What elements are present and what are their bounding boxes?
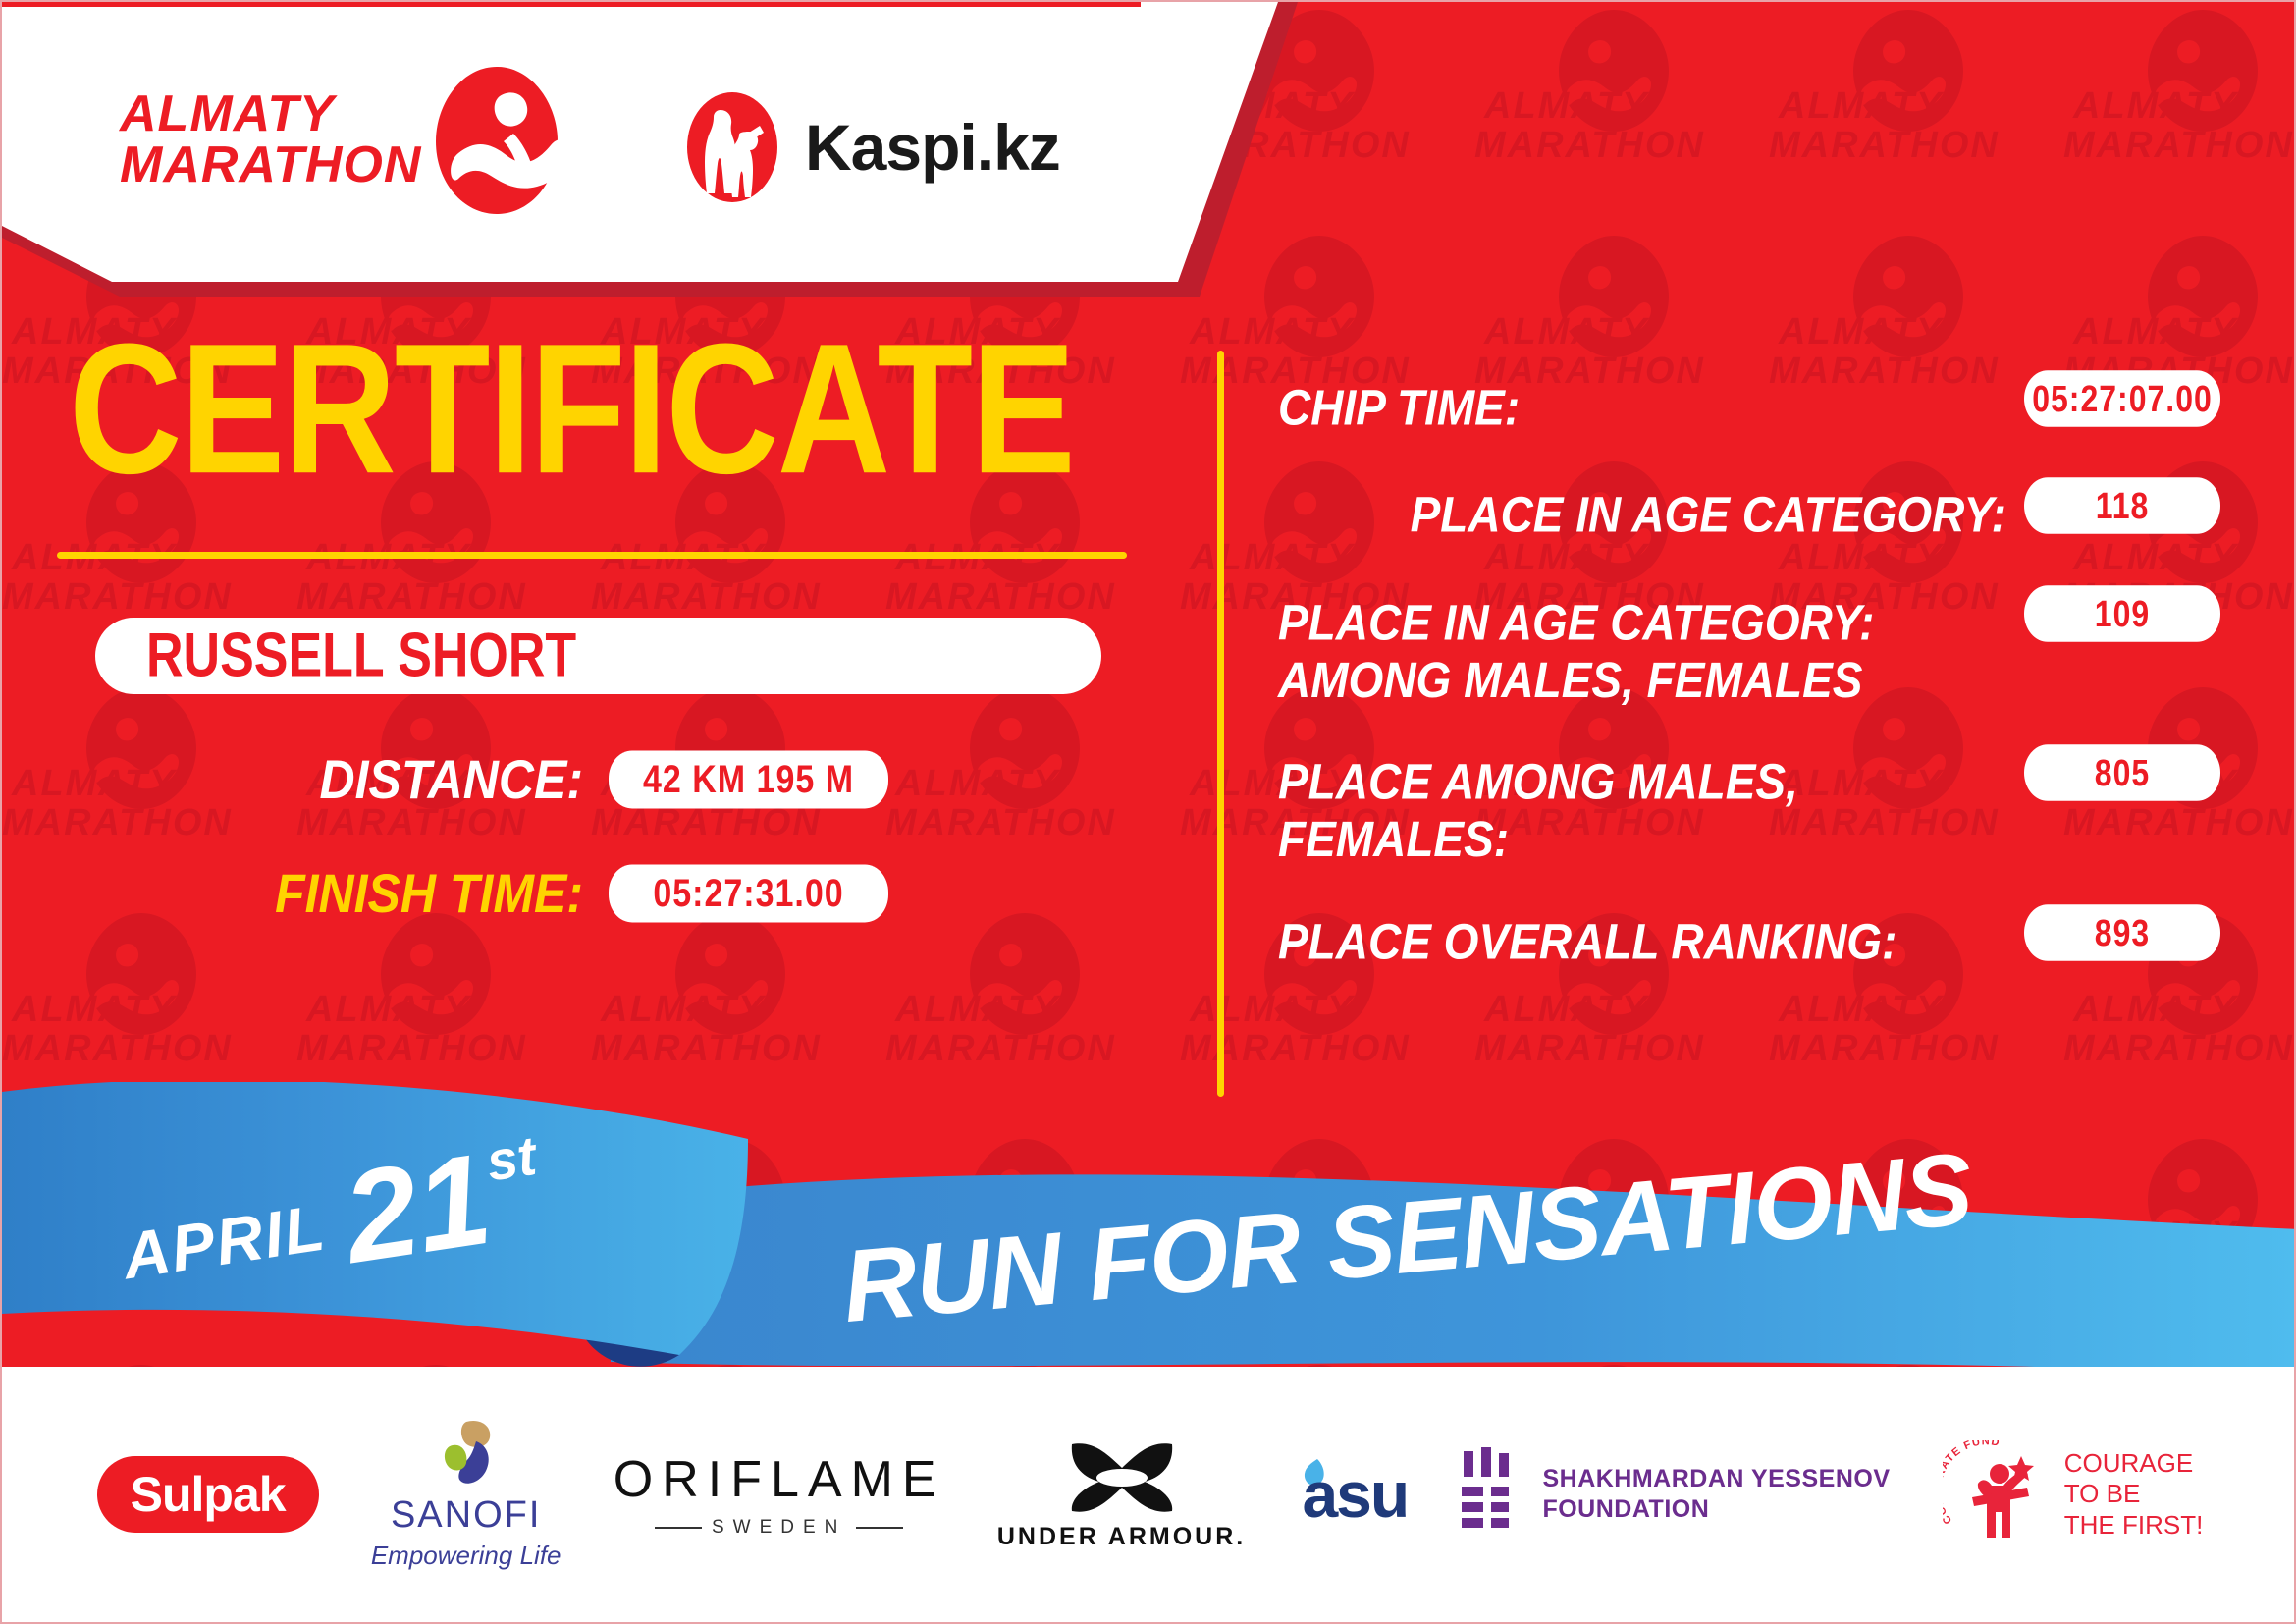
courage-label-line1: COURAGE: [2064, 1448, 2204, 1479]
asu-label: asu: [1302, 1457, 1408, 1532]
oriflame-sub: SWEDEN: [655, 1517, 903, 1539]
place-among-gender-label-line1: PLACE AMONG MALES,: [1278, 754, 1798, 810]
almaty-logo-line1: ALMATY: [120, 88, 421, 139]
sponsor-under-armour: UNDER ARMOUR.: [997, 1438, 1246, 1551]
oriflame-rule-left: [655, 1527, 702, 1529]
result-row-place-age-category-gender: PLACE IN AGE CATEGORY: AMONG MALES, FEMA…: [1278, 590, 2220, 699]
courage-label-line3: THE FIRST!: [2064, 1510, 2204, 1541]
left-column: CERTIFICATE RUSSELL SHORT DISTANCE: 42 K…: [2, 316, 1160, 922]
place-among-gender-label: PLACE AMONG MALES, FEMALES:: [1278, 749, 2006, 869]
sulpak-label: Sulpak: [97, 1456, 319, 1533]
athlete-name-field: RUSSELL SHORT: [95, 618, 1101, 694]
yessenov-label-line2: FOUNDATION: [1542, 1494, 1890, 1525]
courage-fund-icon: CORPORATE FUND: [1943, 1440, 2051, 1548]
almaty-marathon-logo: ALMATY MARATHON: [120, 61, 570, 218]
courage-label: COURAGE TO BE THE FIRST!: [2064, 1448, 2204, 1541]
finish-time-value: 05:27:31.00: [609, 865, 888, 923]
yessenov-label-line1: SHAKHMARDAN YESSENOV: [1542, 1464, 1890, 1494]
under-armour-label: UNDER ARMOUR.: [997, 1523, 1246, 1551]
oriflame-sub-label: SWEDEN: [712, 1517, 846, 1539]
top-accent-rule: [2, 2, 1141, 7]
sanofi-mark-icon: [427, 1418, 506, 1490]
kaspi-label: Kaspi.kz: [805, 110, 1060, 185]
metric-row-distance: DISTANCE: 42 KM 195 M: [2, 751, 1160, 808]
event-month: APRIL: [118, 1189, 331, 1293]
sponsor-sanofi: SANOFI Empowering Life: [371, 1418, 561, 1571]
place-among-gender-label-line2: FEMALES:: [1278, 812, 1509, 868]
place-age-category-gender-label-line1: PLACE IN AGE CATEGORY:: [1278, 594, 1874, 650]
sponsor-oriflame: ORIFLAME SWEDEN: [614, 1450, 945, 1539]
athlete-name-value: RUSSELL SHORT: [146, 620, 576, 691]
sponsor-courage-fund: CORPORATE FUND COURAGE TO BE THE FIRST!: [1943, 1440, 2204, 1548]
place-age-category-gender-label-line2: AMONG MALES, FEMALES: [1278, 652, 1862, 708]
result-row-place-age-category: PLACE IN AGE CATEGORY: 118: [1278, 482, 2220, 538]
oriflame-rule-right: [856, 1527, 903, 1529]
event-day: 21: [338, 1144, 497, 1274]
yessenov-label: SHAKHMARDAN YESSENOV FOUNDATION: [1542, 1464, 1890, 1526]
oriflame-label: ORIFLAME: [614, 1450, 945, 1509]
kaspi-people-icon: [679, 88, 785, 206]
sanofi-tagline: Empowering Life: [371, 1541, 561, 1571]
sponsor-asu: asu: [1298, 1457, 1408, 1532]
place-among-gender-value: 805: [2024, 745, 2220, 802]
result-row-chip-time: CHIP TIME: 05:27:07.00: [1278, 375, 2220, 431]
chip-time-value: 05:27:07.00: [2024, 370, 2220, 427]
place-age-category-gender-label: PLACE IN AGE CATEGORY: AMONG MALES, FEMA…: [1278, 590, 2006, 710]
place-age-category-value: 118: [2024, 478, 2220, 535]
result-row-place-overall: PLACE OVERALL RANKING: 893: [1278, 909, 2220, 965]
place-overall-label: PLACE OVERALL RANKING:: [1278, 909, 2006, 971]
kaspi-logo: Kaspi.kz: [679, 88, 1060, 206]
sanofi-label: SANOFI: [391, 1494, 541, 1537]
finish-time-label: FINISH TIME:: [2, 862, 583, 926]
sponsor-footer: Sulpak SANOFI Empowering Life ORIFLAME S…: [2, 1367, 2296, 1622]
sponsor-yessenov-foundation: SHAKHMARDAN YESSENOV FOUNDATION: [1460, 1447, 1890, 1542]
distance-label: DISTANCE:: [2, 748, 583, 812]
under-armour-icon: [1064, 1438, 1180, 1515]
runner-drop-icon: [423, 61, 570, 218]
metric-row-finish-time: FINISH TIME: 05:27:31.00: [2, 865, 1160, 922]
courage-label-line2: TO BE: [2064, 1479, 2204, 1509]
place-overall-value: 893: [2024, 904, 2220, 961]
place-age-category-gender-value: 109: [2024, 585, 2220, 642]
sponsor-sulpak: Sulpak: [97, 1456, 319, 1533]
column-divider: [1217, 351, 1224, 1097]
yessenov-mark-icon: [1460, 1447, 1521, 1542]
results-column: CHIP TIME: 05:27:07.00 PLACE IN AGE CATE…: [1278, 375, 2220, 1017]
page-title: CERTIFICATE: [69, 316, 1160, 502]
result-row-place-among-gender: PLACE AMONG MALES, FEMALES: 805: [1278, 749, 2220, 858]
distance-value: 42 KM 195 M: [609, 751, 888, 809]
place-age-category-label: PLACE IN AGE CATEGORY:: [1278, 482, 2006, 544]
event-day-suffix: st: [483, 1128, 540, 1190]
title-underline: [57, 552, 1127, 559]
almaty-logo-line2: MARATHON: [120, 139, 421, 190]
chip-time-label: CHIP TIME:: [1278, 375, 2006, 437]
certificate-page: ALMATY MARATHON ALMATY MARATHON Kaspi.kz: [0, 0, 2296, 1624]
